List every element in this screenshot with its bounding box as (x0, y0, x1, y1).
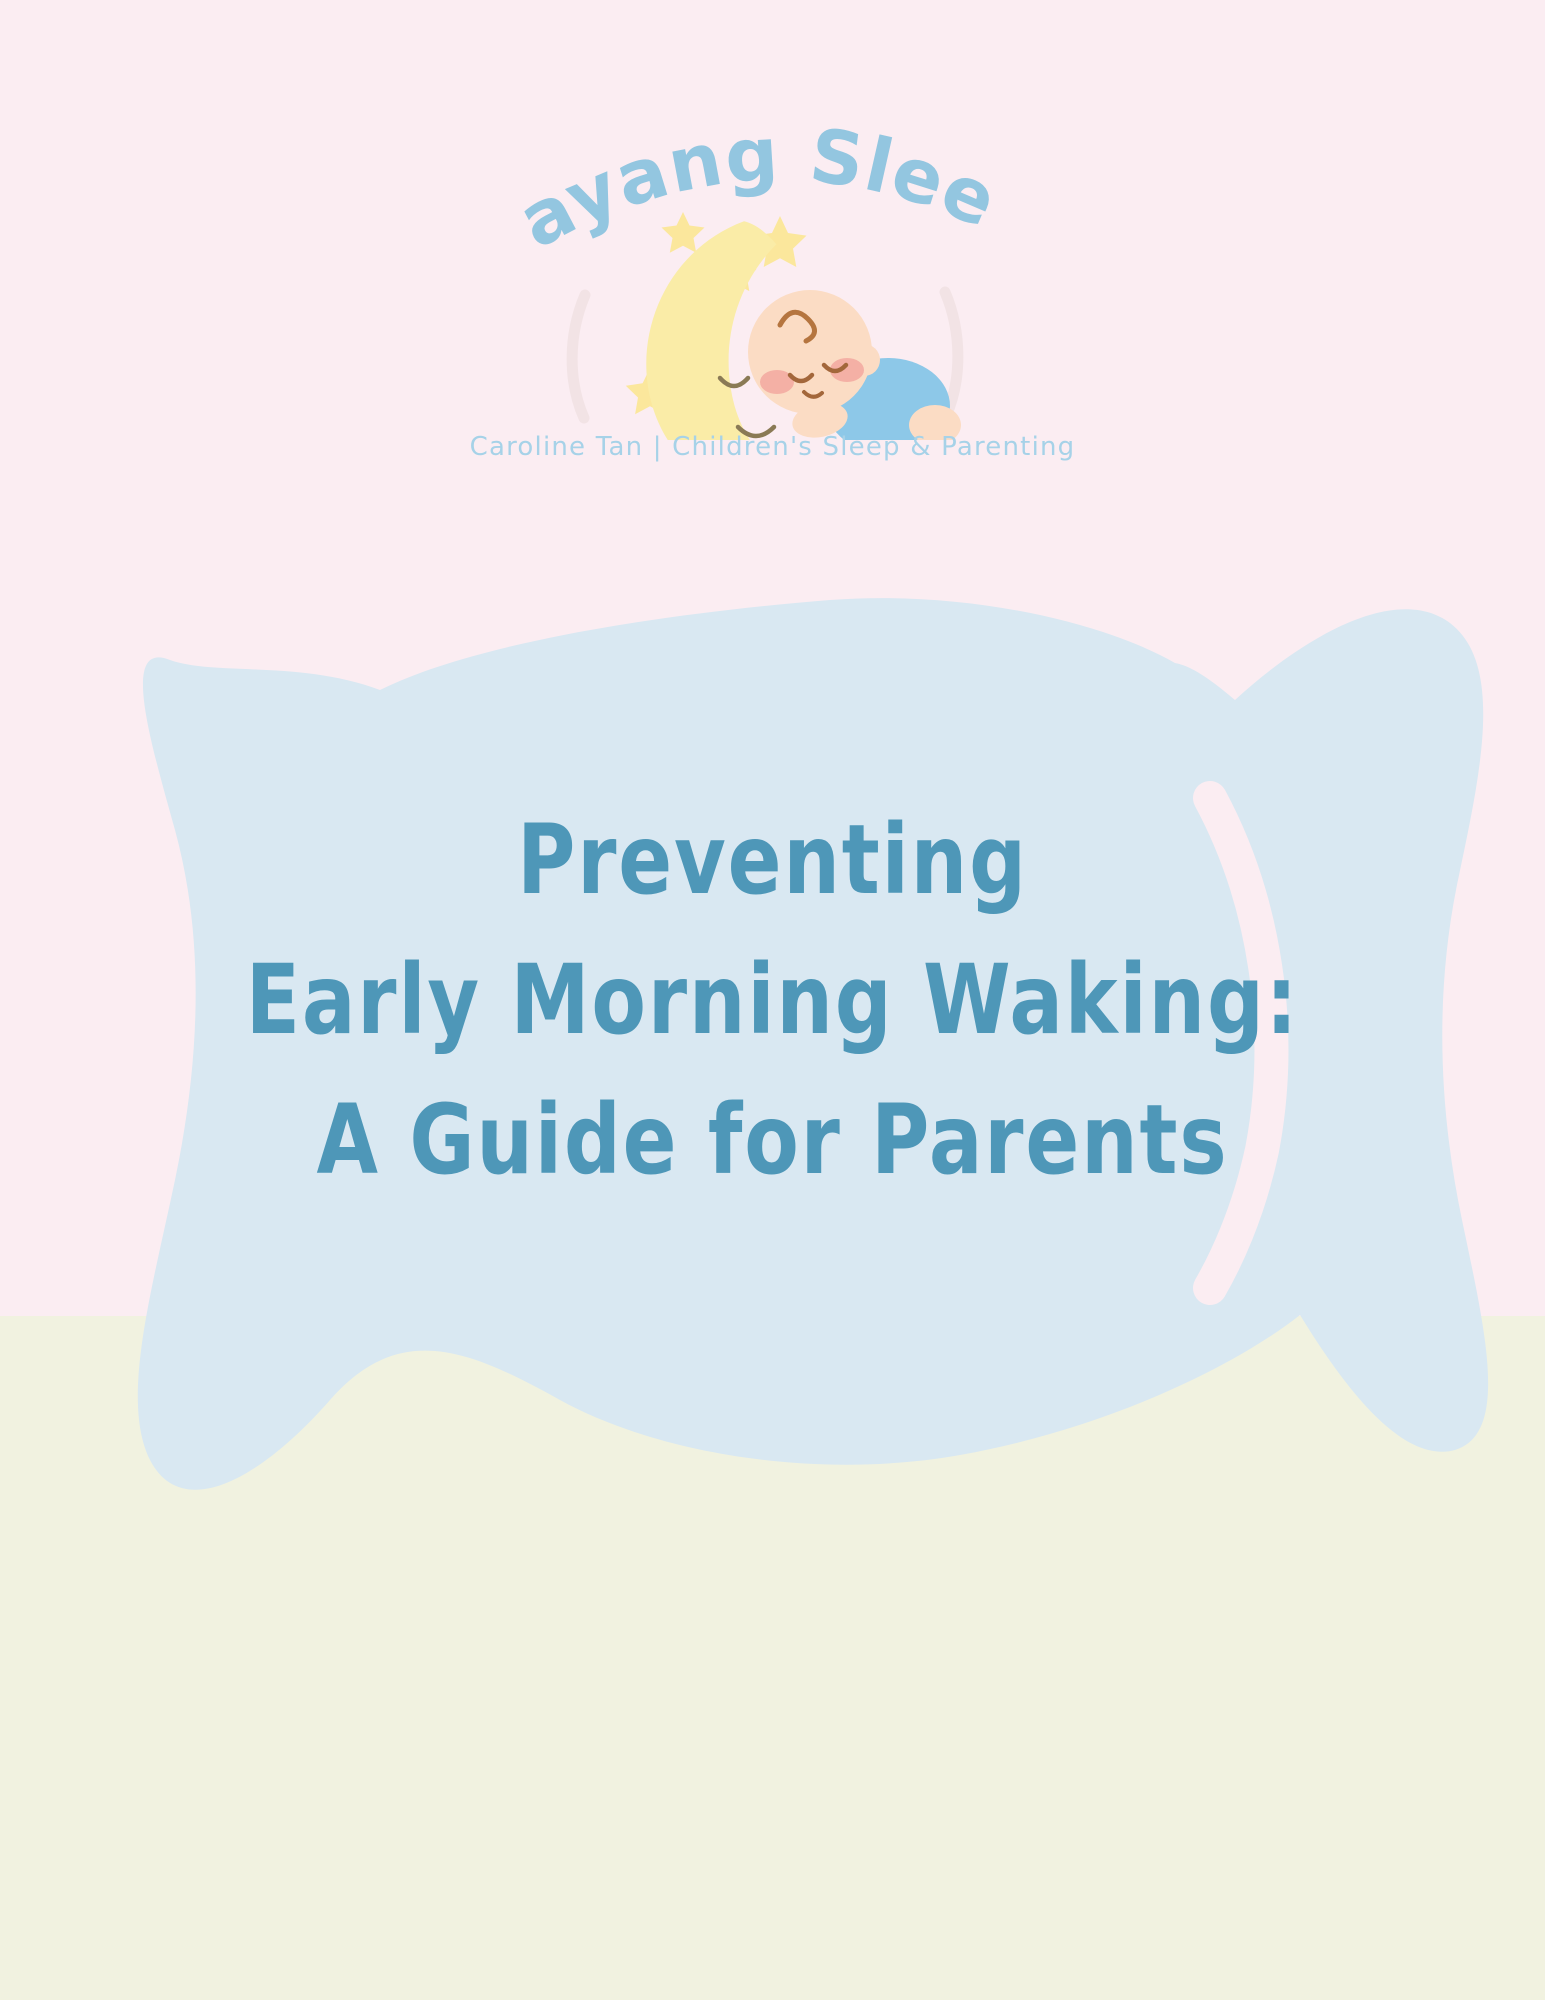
title-line-2: Early Morning Waking: (62, 930, 1483, 1070)
logo-graphic: Sayang Sleep (480, 120, 1040, 440)
left-bracket-arc (572, 295, 585, 418)
logo-tagline: Caroline Tan | Children's Sleep & Parent… (0, 432, 1545, 462)
cover-title: Preventing Early Morning Waking: A Guide… (0, 790, 1545, 1210)
cover-page: Sayang Sleep (0, 0, 1545, 2000)
title-line-3: A Guide for Parents (62, 1070, 1483, 1210)
moon-eye (720, 378, 748, 386)
title-line-1: Preventing (62, 790, 1483, 930)
brand-logo: Sayang Sleep (0, 0, 1545, 500)
sleeping-baby-icon (748, 290, 961, 440)
